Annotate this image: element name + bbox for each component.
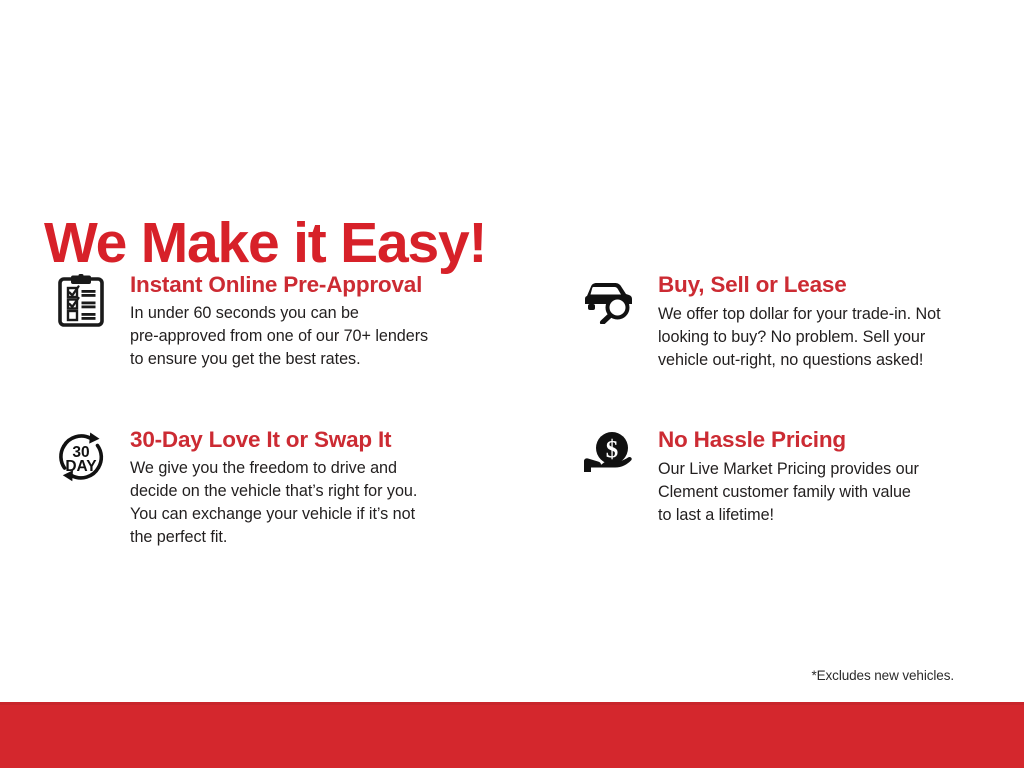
feature-body: Instant Online Pre-Approval In under 60 … xyxy=(110,272,428,371)
feature-line: You can exchange your vehicle if it’s no… xyxy=(130,503,417,526)
footnote-disclaimer: *Excludes new vehicles. xyxy=(811,668,954,683)
feature-line: vehicle out-right, no questions asked! xyxy=(658,349,941,372)
bottom-accent-bar xyxy=(0,702,1024,768)
feature-title: No Hassle Pricing xyxy=(658,427,919,453)
feature-line: Our Live Market Pricing provides our xyxy=(658,458,919,481)
feature-grid: Instant Online Pre-Approval In under 60 … xyxy=(52,272,982,549)
feature-line: the perfect fit. xyxy=(130,526,417,549)
feature-30-day-love-it-or-swap-it: 30 DAY 30-Day Love It or Swap It We give… xyxy=(52,427,562,549)
feature-title: 30-Day Love It or Swap It xyxy=(130,427,417,453)
feature-line: We give you the freedom to drive and xyxy=(130,457,417,480)
feature-title: Instant Online Pre-Approval xyxy=(130,272,428,298)
feature-instant-online-pre-approval: Instant Online Pre-Approval In under 60 … xyxy=(52,272,562,417)
feature-title: Buy, Sell or Lease xyxy=(658,272,941,298)
clipboard-checklist-icon xyxy=(52,272,110,332)
feature-line: looking to buy? No problem. Sell your xyxy=(658,326,941,349)
feature-description: In under 60 seconds you can be pre-appro… xyxy=(130,302,428,371)
feature-body: No Hassle Pricing Our Live Market Pricin… xyxy=(638,427,919,527)
svg-text:$: $ xyxy=(606,437,619,464)
bar-top-hairline xyxy=(0,702,1024,705)
feature-line: to last a lifetime! xyxy=(658,504,919,527)
feature-no-hassle-pricing: $ No Hassle Pricing Our Live Market Pric… xyxy=(562,427,982,549)
feature-line: pre-approved from one of our 70+ lenders xyxy=(130,325,428,348)
feature-line: to ensure you get the best rates. xyxy=(130,348,428,371)
feature-line: Clement customer family with value xyxy=(658,481,919,504)
page-title: We Make it Easy! xyxy=(44,214,486,274)
feature-line: In under 60 seconds you can be xyxy=(130,302,428,325)
feature-body: 30-Day Love It or Swap It We give you th… xyxy=(110,427,417,549)
car-magnifier-icon xyxy=(580,272,638,332)
feature-description: We offer top dollar for your trade-in. N… xyxy=(658,303,941,372)
thirty-day-refresh-icon: 30 DAY xyxy=(52,427,110,487)
feature-line: We offer top dollar for your trade-in. N… xyxy=(658,303,941,326)
hand-holding-dollar-icon: $ xyxy=(580,427,638,487)
slide-canvas: We Make it Easy! xyxy=(0,0,1024,768)
feature-buy-sell-or-lease: Buy, Sell or Lease We offer top dollar f… xyxy=(562,272,982,417)
feature-description: We give you the freedom to drive and dec… xyxy=(130,457,417,549)
feature-line: decide on the vehicle that’s right for y… xyxy=(130,480,417,503)
feature-body: Buy, Sell or Lease We offer top dollar f… xyxy=(638,272,941,372)
feature-description: Our Live Market Pricing provides our Cle… xyxy=(658,458,919,527)
icon-text-day: DAY xyxy=(65,458,97,475)
